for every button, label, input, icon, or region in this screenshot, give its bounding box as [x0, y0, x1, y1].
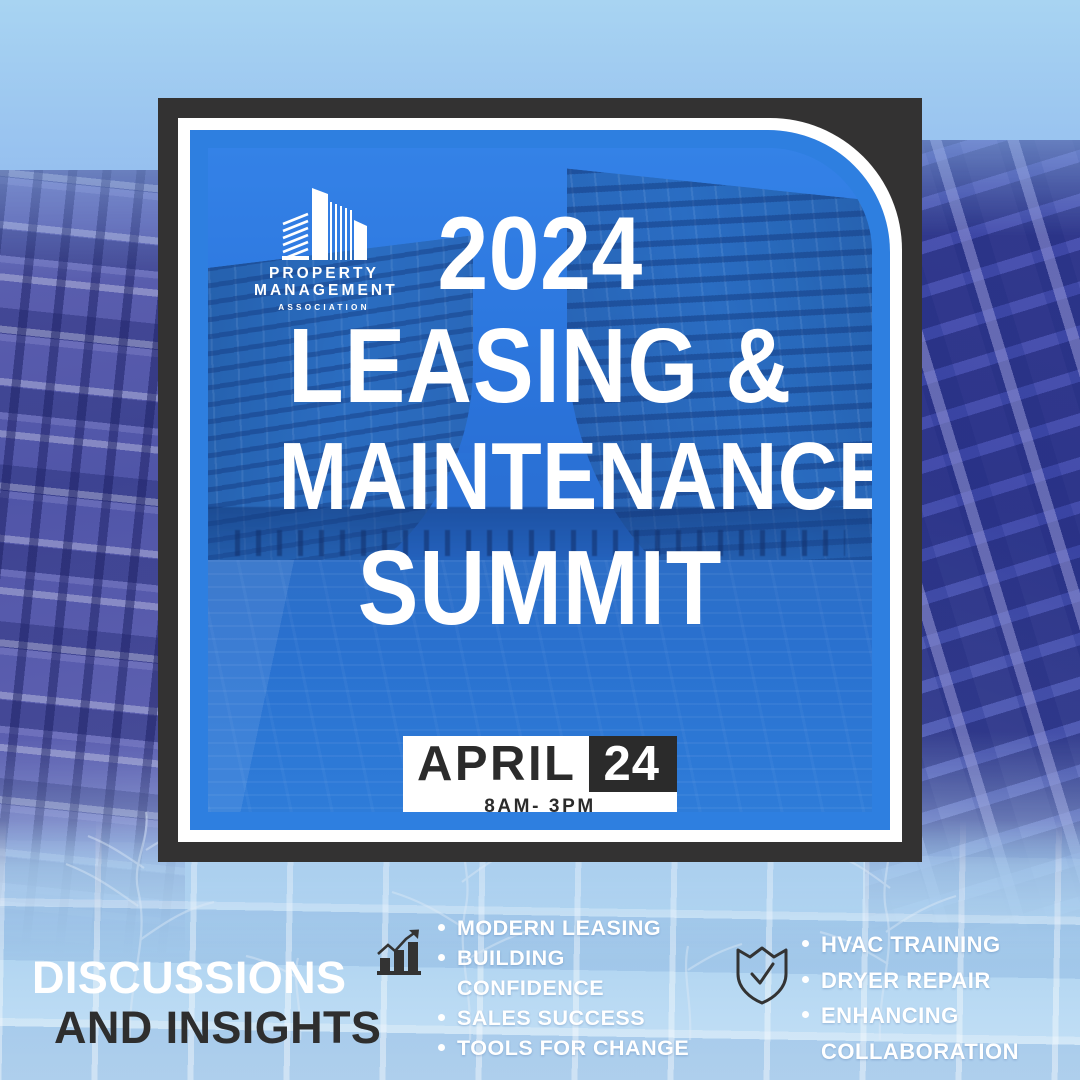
date-badge-top-row: APRIL 24 [403, 736, 677, 792]
list-item: HVAC TRAINING [800, 932, 1019, 958]
date-day: 24 [588, 736, 677, 792]
list-item-continuation: COLLABORATION [800, 1039, 1019, 1065]
event-date-badge: APRIL 24 8AM- 3PM [403, 736, 677, 812]
footer-list-maintenance: HVAC TRAINING DRYER REPAIR ENHANCING COL… [800, 932, 1019, 1074]
poster-card: PROPERTY MANAGEMENT ASSOCIATION 2024 LEA… [158, 98, 922, 862]
poster-hero-photo: PROPERTY MANAGEMENT ASSOCIATION 2024 LEA… [208, 148, 872, 812]
footer-section: DISCUSSIONS AND INSIGHTS MODERN LEASING … [0, 920, 1080, 1080]
list-item: TOOLS FOR CHANGE [436, 1036, 689, 1061]
footer-list-leasing: MODERN LEASING BUILDING CONFIDENCE SALES… [436, 916, 689, 1066]
footer-column-maintenance: HVAC TRAINING DRYER REPAIR ENHANCING COL… [734, 932, 1019, 1074]
poster-card-blue-frame: PROPERTY MANAGEMENT ASSOCIATION 2024 LEA… [190, 130, 890, 830]
growth-bar-chart-icon [376, 928, 426, 981]
date-month: APRIL [403, 736, 589, 792]
headline-line-1: LEASING & [279, 312, 802, 420]
poster-headline: 2024 LEASING & MAINTENANCE SUMMIT [208, 206, 872, 642]
list-item: DRYER REPAIR [800, 968, 1019, 994]
footer-heading-line-1: DISCUSSIONS [32, 954, 381, 1002]
headline-year: 2024 [272, 206, 807, 304]
headline-line-2: MAINTENANCE [279, 428, 802, 526]
list-item-continuation: CONFIDENCE [436, 976, 689, 1001]
headline-line-3: SUMMIT [279, 534, 802, 642]
list-item: SALES SUCCESS [436, 1006, 689, 1031]
list-item: BUILDING [436, 946, 689, 971]
list-item: MODERN LEASING [436, 916, 689, 941]
footer-heading: DISCUSSIONS AND INSIGHTS [32, 954, 381, 1052]
poster-card-white-frame: PROPERTY MANAGEMENT ASSOCIATION 2024 LEA… [178, 118, 902, 842]
footer-column-leasing: MODERN LEASING BUILDING CONFIDENCE SALES… [376, 916, 689, 1066]
shield-check-icon [734, 944, 790, 1011]
date-time-range: 8AM- 3PM [403, 792, 677, 812]
footer-heading-line-2: AND INSIGHTS [54, 1004, 381, 1052]
list-item: ENHANCING [800, 1003, 1019, 1029]
